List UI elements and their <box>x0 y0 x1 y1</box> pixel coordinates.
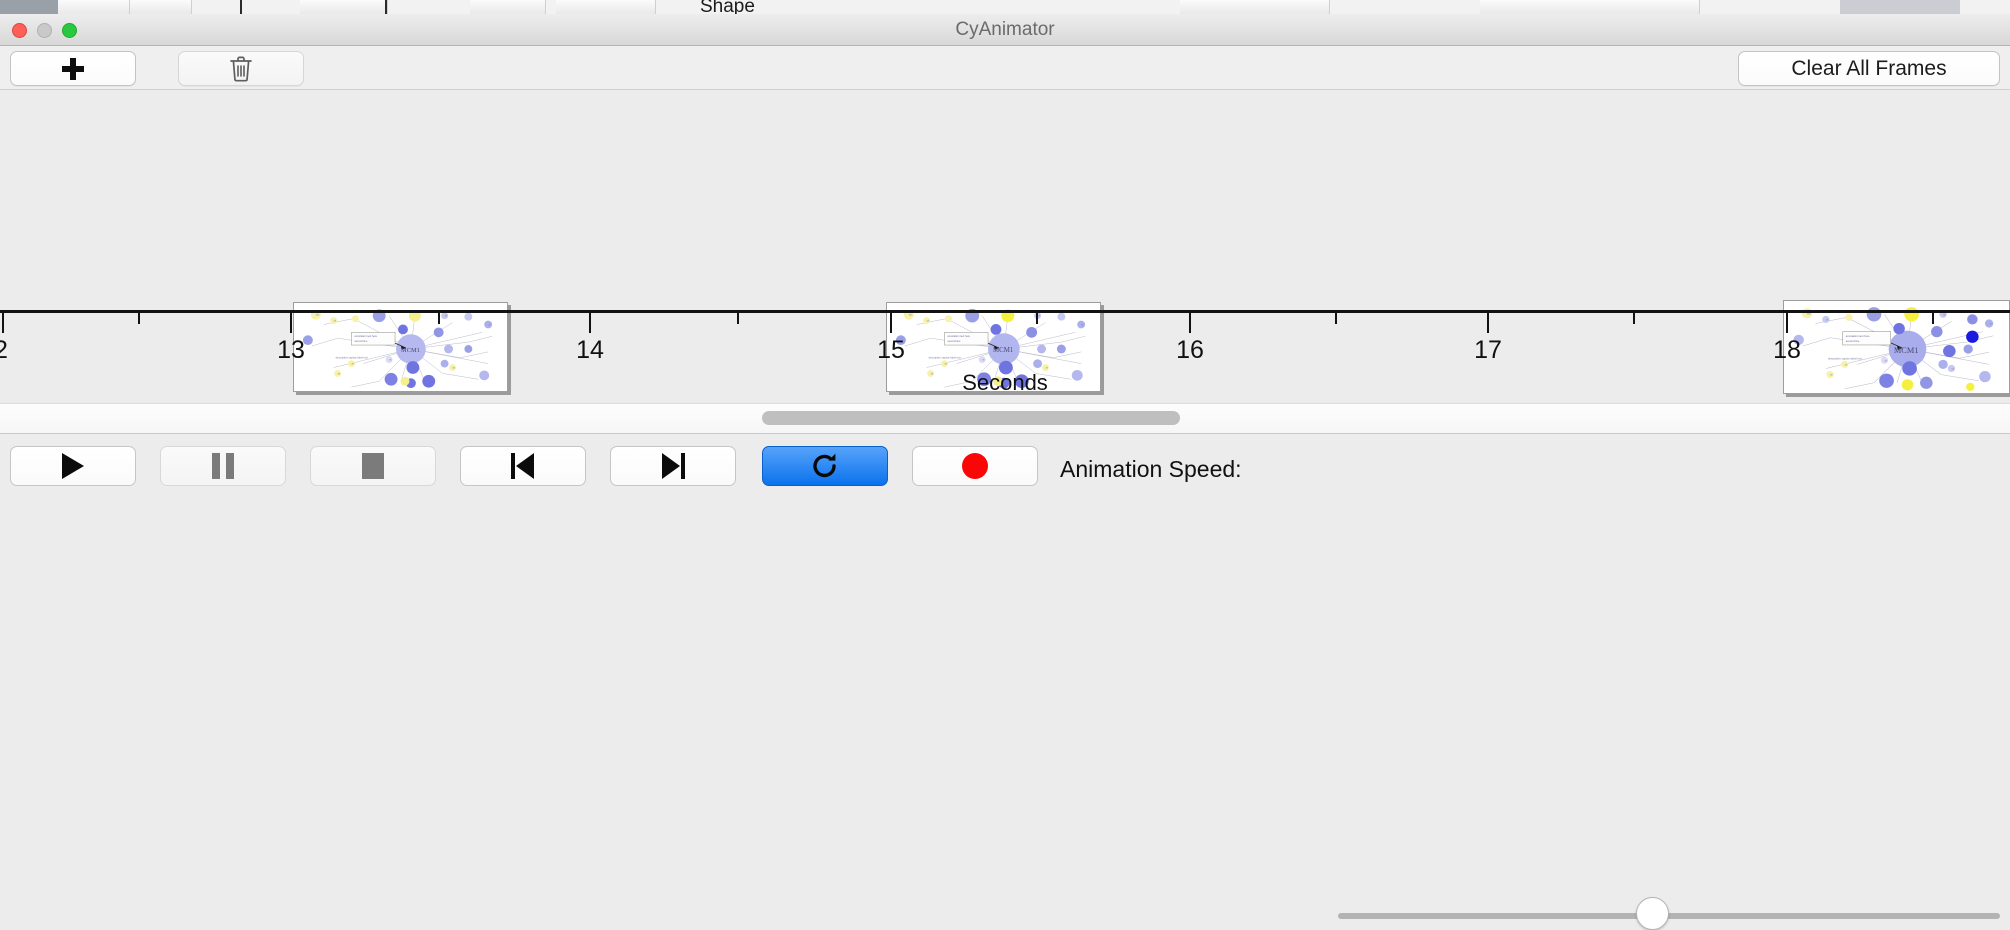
next-frame-button[interactable] <box>610 446 736 486</box>
plus-icon <box>62 58 84 80</box>
clear-all-frames-button[interactable]: Clear All Frames <box>1738 51 2000 86</box>
svg-text:annotation text here: annotation text here <box>947 334 970 338</box>
axis-tick-14 <box>589 313 591 333</box>
stop-icon <box>362 453 384 479</box>
axis-tick-17 <box>1487 313 1489 333</box>
axis-tick-13 <box>290 313 292 333</box>
record-button[interactable] <box>912 446 1038 486</box>
axis-tick-minor <box>737 313 739 324</box>
loop-icon <box>810 451 840 481</box>
play-button[interactable] <box>10 446 136 486</box>
animation-speed-slider-thumb[interactable] <box>1636 897 1669 930</box>
timeline-axis <box>0 310 2010 313</box>
axis-label-13: 13 <box>251 336 331 365</box>
window-title: CyAnimator <box>0 14 2010 46</box>
timeline-panel[interactable]: abcab abab abab abab annotation text her… <box>0 90 2010 403</box>
playback-bar: Animation Speed: <box>0 433 2010 510</box>
skip-back-icon <box>511 453 535 479</box>
delete-frame-button[interactable] <box>178 51 304 86</box>
pause-button[interactable] <box>160 446 286 486</box>
svg-text:annotation text here: annotation text here <box>354 334 377 338</box>
timeline-scrollbar[interactable] <box>0 403 2010 433</box>
axis-tick-minor <box>1932 313 1934 324</box>
play-icon <box>62 453 84 479</box>
trash-icon <box>228 55 254 83</box>
axis-tick-12 <box>2 313 4 333</box>
axis-label-18: 18 <box>1747 336 1827 365</box>
prev-frame-button[interactable] <box>460 446 586 486</box>
svg-text:second line: second line <box>1846 339 1860 343</box>
animation-speed-slider-track[interactable] <box>1338 913 2000 919</box>
toolbar: Clear All Frames <box>0 46 2010 90</box>
axis-label-16: 16 <box>1150 336 1230 365</box>
record-icon <box>962 453 988 479</box>
axis-tick-minor <box>1335 313 1337 324</box>
axis-tick-15 <box>890 313 892 333</box>
svg-text:second line: second line <box>354 339 368 343</box>
animation-speed-label: Animation Speed: <box>1060 456 1242 483</box>
svg-text:descriptive caption label text: descriptive caption label text <box>929 356 961 360</box>
hub-node-label: MCM1 <box>993 347 1014 354</box>
stop-button[interactable] <box>310 446 436 486</box>
axis-tick-18 <box>1786 313 1788 333</box>
window-title-bar: CyAnimator <box>0 14 2010 46</box>
axis-tick-16 <box>1189 313 1191 333</box>
hub-node-label: MCM1 <box>1894 346 1919 355</box>
hub-node-label: MCM1 <box>401 347 420 354</box>
axis-tick-minor <box>438 313 440 324</box>
add-frame-button[interactable] <box>10 51 136 86</box>
axis-label-14: 14 <box>550 336 630 365</box>
axis-caption: Seconds <box>0 370 2010 396</box>
background-window-strip: Shape <box>0 0 2010 14</box>
axis-label-15: 15 <box>851 336 931 365</box>
background-window-label: Shape <box>700 0 755 14</box>
svg-text:descriptive caption label text: descriptive caption label text <box>1828 356 1862 360</box>
axis-label-12: 12 <box>0 336 34 365</box>
svg-text:annotation text here: annotation text here <box>1846 334 1870 338</box>
scrollbar-thumb[interactable] <box>762 411 1180 425</box>
svg-text:descriptive caption label text: descriptive caption label text <box>336 356 368 360</box>
svg-text:second line: second line <box>947 339 961 343</box>
axis-label-17: 17 <box>1448 336 1528 365</box>
loop-button[interactable] <box>762 446 888 486</box>
axis-tick-minor <box>1036 313 1038 324</box>
skip-forward-icon <box>661 453 685 479</box>
pause-icon <box>212 453 234 479</box>
axis-tick-minor <box>138 313 140 324</box>
axis-tick-minor <box>1633 313 1635 324</box>
